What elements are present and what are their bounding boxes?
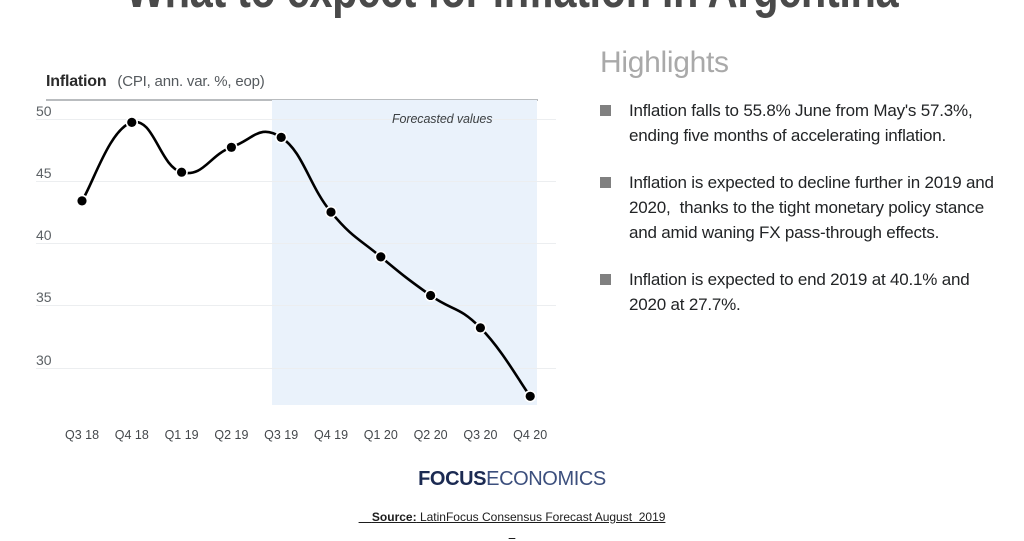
x-axis-tick-label: Q2 19 — [214, 428, 248, 442]
focuseconomics-logo: FOCUSECONOMICS — [0, 468, 1024, 490]
highlights-panel: Highlights Inflation falls to 55.8% June… — [596, 46, 1006, 339]
y-axis-tick-label: 35 — [36, 289, 52, 305]
x-axis-tick-label: Q3 18 — [65, 428, 99, 442]
y-axis-tick-label: 30 — [36, 352, 52, 368]
square-bullet-icon — [600, 177, 611, 188]
data-point-marker — [227, 143, 236, 152]
series-line — [82, 122, 530, 396]
highlight-bullet-text: Inflation falls to 55.8% June from May's… — [629, 98, 1006, 148]
forecast-band-label: Forecasted values — [392, 112, 492, 126]
data-point-marker — [177, 168, 186, 177]
source-text: LatinFocus Consensus Forecast August 201… — [417, 510, 666, 524]
x-axis-tick-label: Q1 19 — [165, 428, 199, 442]
highlights-title: Highlights — [600, 46, 1006, 80]
data-point-marker — [376, 252, 385, 261]
highlight-bullet: Inflation falls to 55.8% June from May's… — [596, 98, 1006, 148]
source-label: Source: — [372, 510, 417, 524]
x-axis-tick-label: Q3 19 — [264, 428, 298, 442]
chart-x-axis: Q3 18Q4 18Q1 19Q2 19Q3 19Q4 19Q1 20Q2 20… — [36, 428, 556, 446]
data-point-marker — [426, 291, 435, 300]
square-bullet-icon — [600, 274, 611, 285]
highlight-bullet: Inflation is expected to end 2019 at 40.… — [596, 267, 1006, 317]
y-axis-tick-label: 50 — [36, 103, 52, 119]
data-point-marker — [476, 323, 485, 332]
y-axis-tick-label: 40 — [36, 227, 52, 243]
x-axis-tick-label: Q4 20 — [513, 428, 547, 442]
x-axis-tick-label: Q3 20 — [463, 428, 497, 442]
square-bullet-icon — [600, 105, 611, 116]
data-point-marker — [277, 133, 286, 142]
highlight-bullet-text: Inflation is expected to end 2019 at 40.… — [629, 267, 1006, 317]
data-point-marker — [127, 118, 136, 127]
inflation-chart-panel: Inflation(CPI, ann. var. %, eop) Forecas… — [0, 0, 580, 460]
highlight-bullet: Inflation is expected to decline further… — [596, 170, 1006, 245]
source-line: Source: LatinFocus Consensus Forecast Au… — [0, 493, 1024, 541]
data-point-marker — [326, 207, 335, 216]
x-axis-tick-label: Q1 20 — [364, 428, 398, 442]
inflation-line-series — [36, 100, 556, 405]
brand-focus: FOCUS — [418, 468, 486, 490]
highlight-bullet-text: Inflation is expected to decline further… — [629, 170, 1006, 245]
chart-plot-area — [36, 100, 556, 405]
y-axis-tick-label: 45 — [36, 165, 52, 181]
data-point-marker — [526, 392, 535, 401]
highlights-bullet-list: Inflation falls to 55.8% June from May's… — [596, 98, 1006, 317]
chart-title: Inflation — [46, 73, 106, 90]
x-axis-tick-label: Q4 18 — [115, 428, 149, 442]
chart-subtitle: (CPI, ann. var. %, eop) — [117, 73, 264, 90]
x-axis-tick-label: Q4 19 — [314, 428, 348, 442]
x-axis-tick-label: Q2 20 — [414, 428, 448, 442]
chart-heading: Inflation(CPI, ann. var. %, eop) — [46, 73, 265, 91]
footer: FOCUSECONOMICS Source: LatinFocus Consen… — [0, 468, 1024, 541]
data-point-marker — [77, 196, 86, 205]
brand-economics: ECONOMICS — [486, 468, 606, 490]
